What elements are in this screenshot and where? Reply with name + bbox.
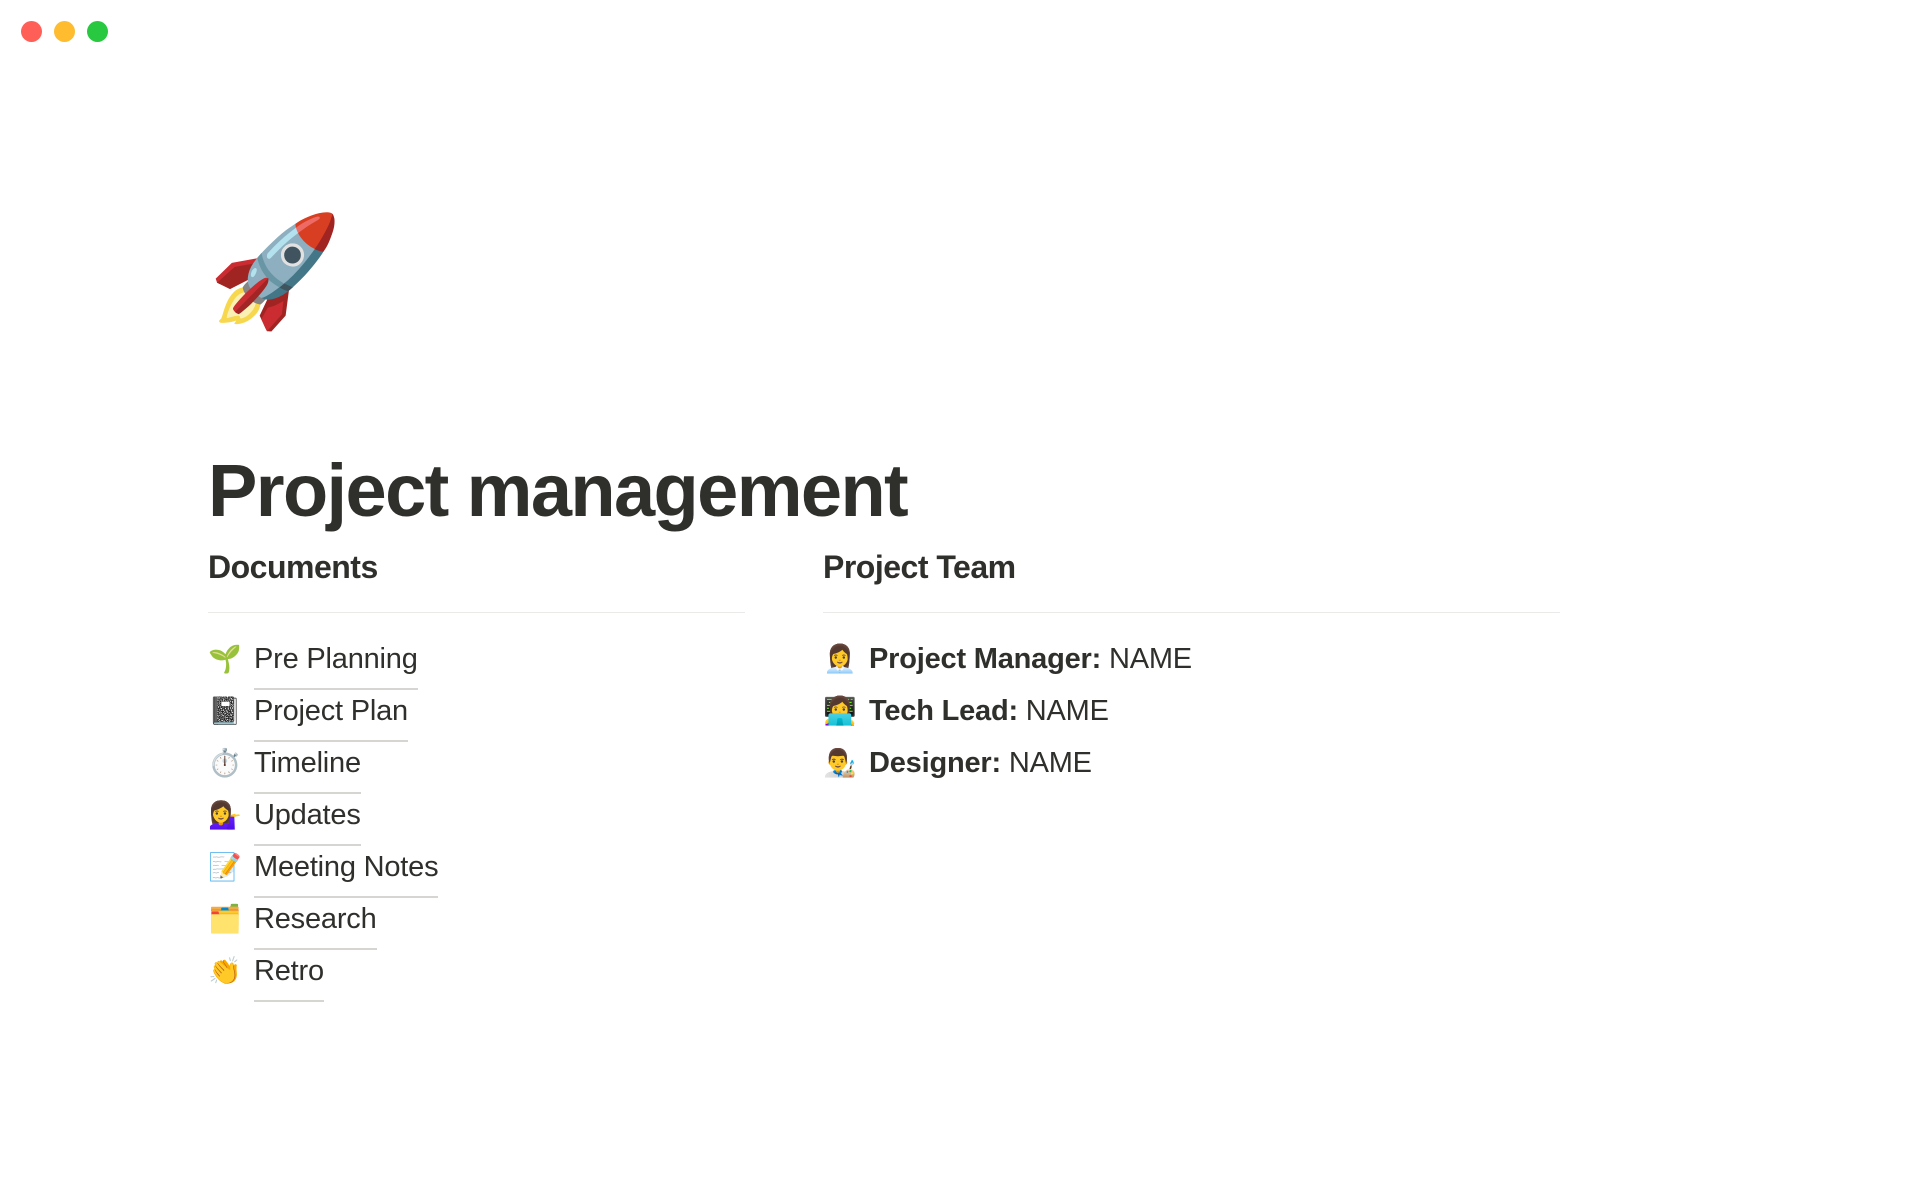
- list-item: 👩‍💻 Tech Lead: NAME: [823, 685, 1560, 737]
- team-role-label: Project Manager:: [869, 643, 1101, 675]
- team-role-label: Designer:: [869, 747, 1001, 779]
- woman-office-worker-icon: 👩‍💼: [823, 634, 869, 686]
- list-item[interactable]: 📓 Project Plan: [208, 685, 745, 737]
- app-window: 🚀 Project management Documents 🌱 Pre Pla…: [0, 0, 1920, 1200]
- document-link-project-plan[interactable]: Project Plan: [254, 685, 408, 742]
- list-item: 👩‍💼 Project Manager: NAME: [823, 633, 1560, 685]
- rocket-icon[interactable]: 🚀: [208, 218, 342, 326]
- seedling-icon: 🌱: [208, 634, 254, 686]
- team-member-name: NAME: [1109, 643, 1192, 675]
- card-index-dividers-icon: 🗂️: [208, 894, 254, 946]
- memo-icon: 📝: [208, 842, 254, 894]
- documents-divider: [208, 612, 745, 613]
- person-tipping-hand-icon: 💁‍♀️: [208, 790, 254, 842]
- team-role-label: Tech Lead:: [869, 695, 1018, 727]
- list-item[interactable]: 👏 Retro: [208, 945, 745, 997]
- man-artist-icon: 👨‍🎨: [823, 738, 869, 790]
- clapping-hands-icon: 👏: [208, 946, 254, 998]
- team-member-name: NAME: [1009, 747, 1092, 779]
- team-member-project-manager: Project Manager: NAME: [869, 633, 1192, 685]
- team-member-designer: Designer: NAME: [869, 737, 1092, 789]
- document-link-updates[interactable]: Updates: [254, 789, 361, 846]
- list-item[interactable]: 📝 Meeting Notes: [208, 841, 745, 893]
- team-member-name: NAME: [1026, 695, 1109, 727]
- page-title: Project management: [208, 450, 907, 533]
- stopwatch-icon: ⏱️: [208, 738, 254, 790]
- two-column-layout: Documents 🌱 Pre Planning 📓 Project Plan: [208, 548, 1560, 997]
- project-team-column: Project Team 👩‍💼 Project Manager: NAME 👩…: [823, 548, 1560, 997]
- list-item[interactable]: ⏱️ Timeline: [208, 737, 745, 789]
- document-link-retro[interactable]: Retro: [254, 945, 324, 1002]
- list-item[interactable]: 🌱 Pre Planning: [208, 633, 745, 685]
- project-team-heading: Project Team: [823, 548, 1560, 588]
- documents-heading: Documents: [208, 548, 745, 588]
- document-page: 🚀 Project management Documents 🌱 Pre Pla…: [0, 0, 1920, 1200]
- list-item[interactable]: 🗂️ Research: [208, 893, 745, 945]
- document-link-timeline[interactable]: Timeline: [254, 737, 361, 794]
- woman-technologist-icon: 👩‍💻: [823, 686, 869, 738]
- team-member-tech-lead: Tech Lead: NAME: [869, 685, 1109, 737]
- documents-list: 🌱 Pre Planning 📓 Project Plan ⏱️ Timelin…: [208, 633, 745, 997]
- document-link-research[interactable]: Research: [254, 893, 377, 950]
- document-link-pre-planning[interactable]: Pre Planning: [254, 633, 418, 690]
- project-team-list: 👩‍💼 Project Manager: NAME 👩‍💻 Tech Lead:…: [823, 633, 1560, 789]
- notebook-icon: 📓: [208, 686, 254, 738]
- document-link-meeting-notes[interactable]: Meeting Notes: [254, 841, 438, 898]
- project-team-divider: [823, 612, 1560, 613]
- list-item: 👨‍🎨 Designer: NAME: [823, 737, 1560, 789]
- list-item[interactable]: 💁‍♀️ Updates: [208, 789, 745, 841]
- documents-column: Documents 🌱 Pre Planning 📓 Project Plan: [208, 548, 745, 997]
